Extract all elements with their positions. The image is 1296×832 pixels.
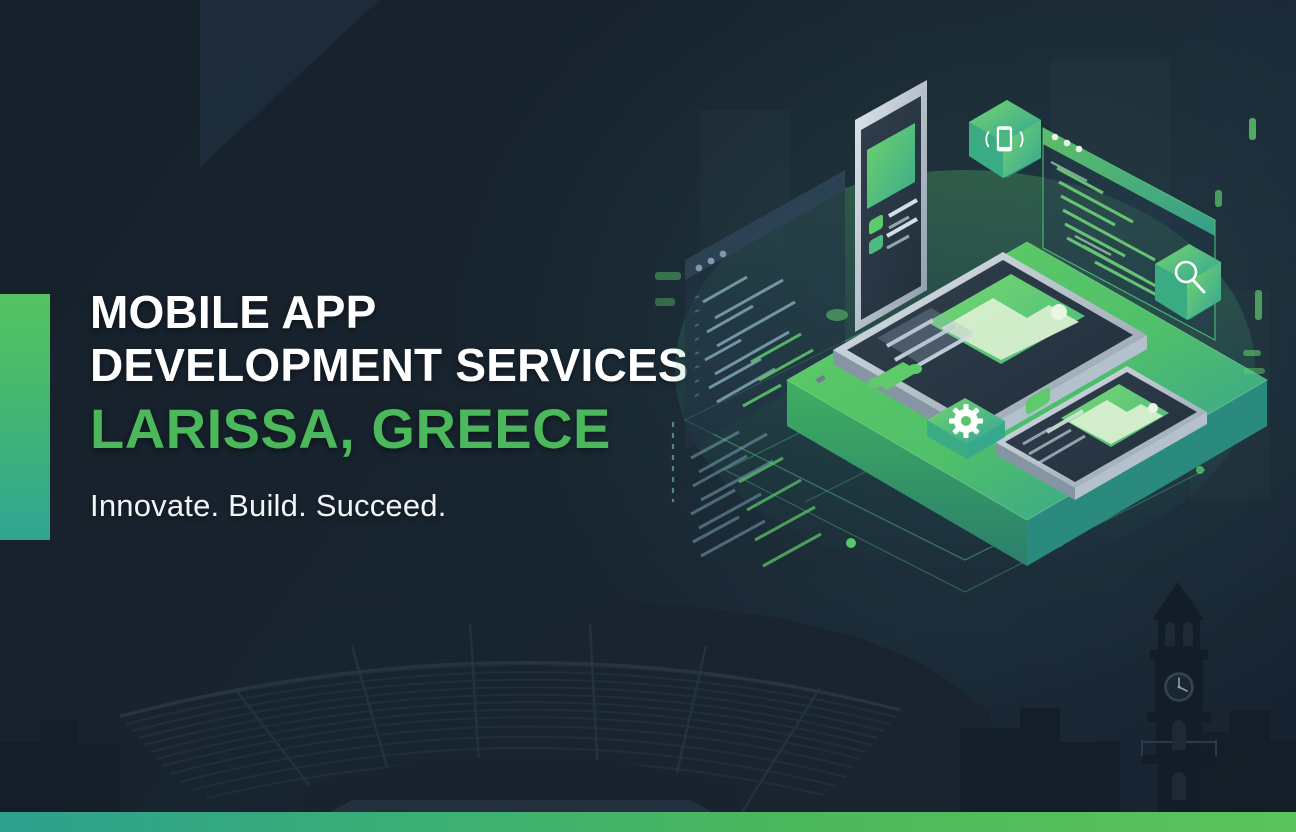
headline-location: LARISSA, GREECE: [90, 396, 710, 462]
headline-block: MOBILE APP DEVELOPMENT SERVICES LARISSA,…: [90, 286, 710, 524]
hero-banner: MOBILE APP DEVELOPMENT SERVICES LARISSA,…: [0, 0, 1296, 832]
phone-upright: [855, 80, 927, 332]
bottom-accent-bar: [0, 812, 1296, 832]
clock-face: [1164, 672, 1194, 702]
background-triangle: [200, 0, 380, 168]
badge-mobile[interactable]: [969, 100, 1041, 178]
gear-icon: [949, 404, 983, 438]
ancient-theatre: [40, 598, 1000, 812]
headline-line-2: DEVELOPMENT SERVICES: [90, 339, 710, 392]
headline-line-1: MOBILE APP: [90, 286, 710, 339]
accent-bar: [0, 294, 50, 540]
city-skyline-silhouette: [0, 512, 1296, 812]
node-dot-3: [1196, 466, 1204, 474]
